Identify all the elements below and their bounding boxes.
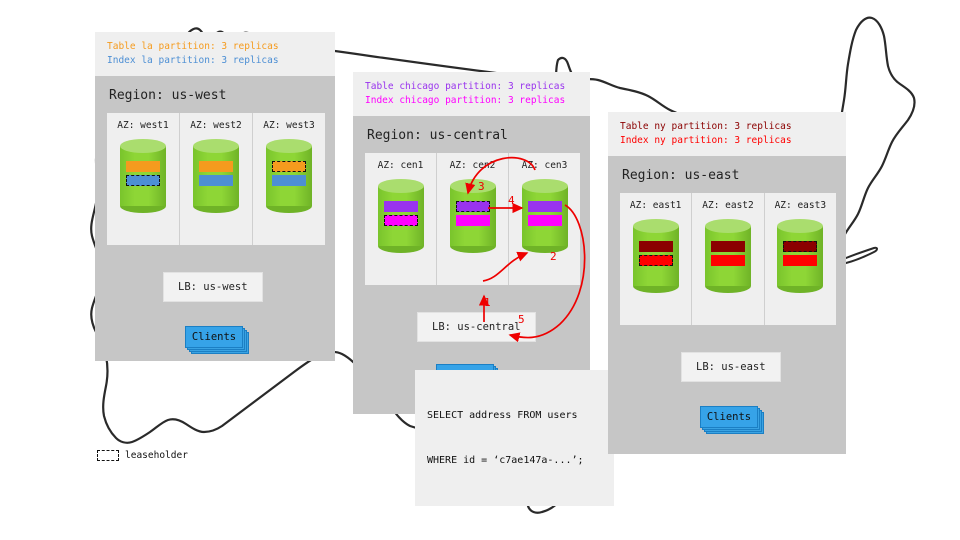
index-partition-label-us-east: Index ny partition: 3 replicas bbox=[620, 134, 836, 148]
replica-bar-table bbox=[639, 241, 673, 252]
az-label-west1: AZ: west1 bbox=[117, 120, 168, 131]
az-label-cen3: AZ: cen3 bbox=[522, 160, 568, 171]
az-label-east3: AZ: east3 bbox=[775, 200, 826, 211]
replica-bar-table-leaseholder bbox=[783, 241, 817, 252]
az-cell-east3[interactable]: AZ: east3 bbox=[765, 193, 836, 325]
load-balancer-us-west[interactable]: LB: us-west bbox=[163, 272, 263, 302]
az-cell-east1[interactable]: AZ: east1 bbox=[620, 193, 692, 325]
region-header-us-central: Table chicago partition: 3 replicas Inde… bbox=[353, 72, 590, 116]
az-strip-us-west: AZ: west1 AZ: west2 bbox=[107, 113, 325, 245]
replica-bar-index bbox=[711, 255, 745, 266]
node-cylinder-west1[interactable] bbox=[120, 139, 166, 213]
replica-bar-index bbox=[199, 175, 233, 186]
node-cylinder-cen1[interactable] bbox=[378, 179, 424, 253]
replica-bar-table bbox=[199, 161, 233, 172]
replica-bar-table bbox=[126, 161, 160, 172]
node-cylinder-cen2[interactable] bbox=[450, 179, 496, 253]
legend-label: leaseholder bbox=[125, 450, 188, 461]
az-label-west2: AZ: west2 bbox=[190, 120, 241, 131]
arrow-label-3: 3 bbox=[478, 180, 485, 193]
cylinder-top bbox=[450, 179, 496, 193]
replica-bar-index bbox=[456, 215, 490, 226]
az-label-cen2: AZ: cen2 bbox=[450, 160, 496, 171]
node-cylinder-west2[interactable] bbox=[193, 139, 239, 213]
cylinder-top bbox=[522, 179, 568, 193]
node-cylinder-east2[interactable] bbox=[705, 219, 751, 293]
region-title-us-central: Region: us-central bbox=[353, 116, 590, 153]
cylinder-top bbox=[120, 139, 166, 153]
leaseholder-swatch-icon bbox=[97, 450, 119, 461]
replica-bar-index-leaseholder bbox=[639, 255, 673, 266]
clients-us-east[interactable]: Clients bbox=[700, 406, 758, 428]
az-cell-cen1[interactable]: AZ: cen1 bbox=[365, 153, 437, 285]
az-label-east1: AZ: east1 bbox=[630, 200, 681, 211]
table-partition-label-us-central: Table chicago partition: 3 replicas bbox=[365, 80, 580, 94]
region-panel-us-east: Table ny partition: 3 replicas Index ny … bbox=[608, 112, 846, 454]
diagram-canvas: Table la partition: 3 replicas Index la … bbox=[0, 0, 960, 540]
az-strip-us-east: AZ: east1 AZ: east2 bbox=[620, 193, 836, 325]
load-balancer-us-east[interactable]: LB: us-east bbox=[681, 352, 781, 382]
replica-bar-index bbox=[272, 175, 306, 186]
az-cell-west1[interactable]: AZ: west1 bbox=[107, 113, 180, 245]
node-cylinder-cen3[interactable] bbox=[522, 179, 568, 253]
replica-bars-east3 bbox=[777, 241, 823, 269]
replica-bar-table-leaseholder bbox=[272, 161, 306, 172]
cylinder-top bbox=[266, 139, 312, 153]
replica-bar-index-leaseholder bbox=[126, 175, 160, 186]
region-title-us-east: Region: us-east bbox=[608, 156, 846, 193]
region-title-us-west: Region: us-west bbox=[95, 76, 335, 113]
node-cylinder-east3[interactable] bbox=[777, 219, 823, 293]
sql-line-2: WHERE id = ‘c7ae147a-...’; bbox=[427, 453, 602, 468]
cylinder-top bbox=[777, 219, 823, 233]
arrow-label-5: 5 bbox=[518, 313, 525, 326]
sql-query-box: SELECT address FROM users WHERE id = ‘c7… bbox=[415, 370, 614, 506]
replica-bar-table bbox=[384, 201, 418, 212]
table-partition-label-us-east: Table ny partition: 3 replicas bbox=[620, 120, 836, 134]
legend: leaseholder bbox=[97, 450, 188, 461]
region-header-us-east: Table ny partition: 3 replicas Index ny … bbox=[608, 112, 846, 156]
arrow-label-1: 1 bbox=[484, 296, 491, 309]
az-label-cen1: AZ: cen1 bbox=[378, 160, 424, 171]
replica-bar-index-leaseholder bbox=[384, 215, 418, 226]
region-panel-us-west: Table la partition: 3 replicas Index la … bbox=[95, 32, 335, 361]
az-cell-west3[interactable]: AZ: west3 bbox=[253, 113, 325, 245]
replica-bars-west3 bbox=[266, 161, 312, 189]
cylinder-top bbox=[193, 139, 239, 153]
replica-bar-index bbox=[528, 215, 562, 226]
replica-bars-cen1 bbox=[378, 201, 424, 229]
index-partition-label-us-central: Index chicago partition: 3 replicas bbox=[365, 94, 580, 108]
replica-bars-west2 bbox=[193, 161, 239, 189]
clients-label-us-east: Clients bbox=[700, 406, 758, 428]
arrow-label-4: 4 bbox=[508, 194, 515, 207]
az-cell-east2[interactable]: AZ: east2 bbox=[692, 193, 764, 325]
replica-bars-west1 bbox=[120, 161, 166, 189]
sql-line-1: SELECT address FROM users bbox=[427, 408, 602, 423]
replica-bar-table bbox=[528, 201, 562, 212]
region-header-us-west: Table la partition: 3 replicas Index la … bbox=[95, 32, 335, 76]
clients-us-west[interactable]: Clients bbox=[185, 326, 243, 348]
replica-bars-cen2 bbox=[450, 201, 496, 229]
replica-bars-east2 bbox=[705, 241, 751, 269]
replica-bars-cen3 bbox=[522, 201, 568, 229]
index-partition-label-us-west: Index la partition: 3 replicas bbox=[107, 54, 325, 68]
region-body-us-west: Region: us-west AZ: west1 A bbox=[95, 76, 335, 361]
clients-label-us-west: Clients bbox=[185, 326, 243, 348]
region-panel-us-central: Table chicago partition: 3 replicas Inde… bbox=[353, 72, 590, 414]
az-cell-west2[interactable]: AZ: west2 bbox=[180, 113, 253, 245]
region-body-us-east: Region: us-east AZ: east1 A bbox=[608, 156, 846, 454]
az-label-east2: AZ: east2 bbox=[702, 200, 753, 211]
replica-bar-table bbox=[711, 241, 745, 252]
az-strip-us-central: AZ: cen1 AZ: cen2 bbox=[365, 153, 580, 285]
node-cylinder-west3[interactable] bbox=[266, 139, 312, 213]
cylinder-top bbox=[705, 219, 751, 233]
cylinder-top bbox=[378, 179, 424, 193]
replica-bar-index bbox=[783, 255, 817, 266]
replica-bars-east1 bbox=[633, 241, 679, 269]
replica-bar-table-leaseholder bbox=[456, 201, 490, 212]
arrow-label-2: 2 bbox=[550, 250, 557, 263]
cylinder-top bbox=[633, 219, 679, 233]
az-cell-cen2[interactable]: AZ: cen2 bbox=[437, 153, 509, 285]
az-cell-cen3[interactable]: AZ: cen3 bbox=[509, 153, 580, 285]
table-partition-label-us-west: Table la partition: 3 replicas bbox=[107, 40, 325, 54]
az-label-west3: AZ: west3 bbox=[263, 120, 314, 131]
node-cylinder-east1[interactable] bbox=[633, 219, 679, 293]
